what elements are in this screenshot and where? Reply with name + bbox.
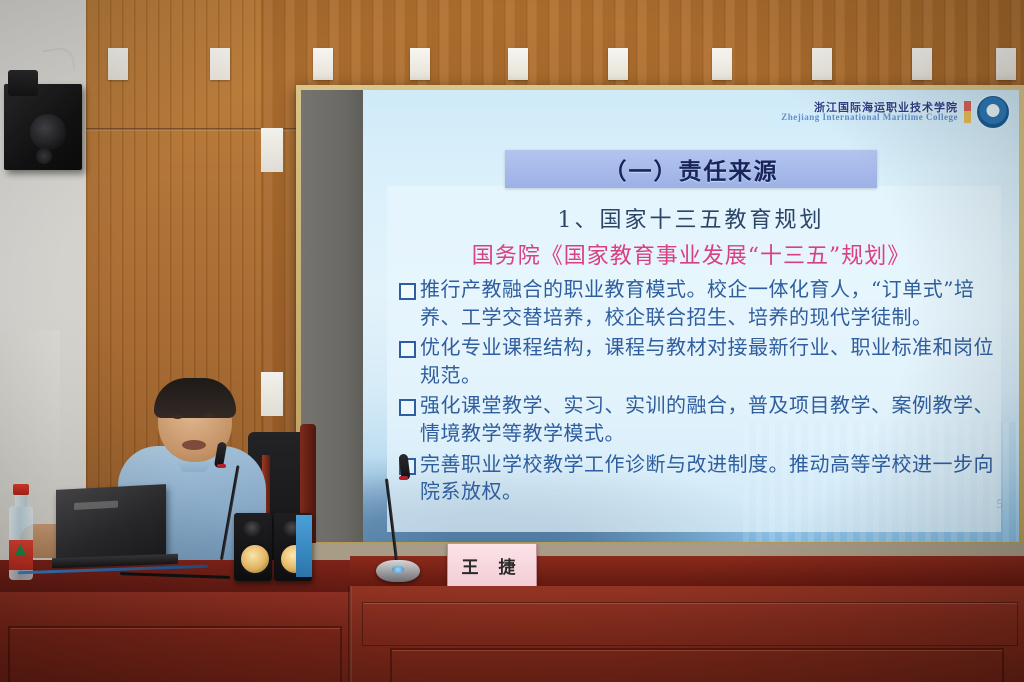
speaker-tweeter-icon <box>36 148 52 164</box>
slide-title-bar: （一）责任来源 <box>505 150 877 188</box>
wall-notch-upper <box>261 128 283 172</box>
mic-indicator-ring <box>217 464 226 468</box>
slide-page-number: 5 <box>997 496 1004 512</box>
slide-canvas: 浙江国际海运职业技术学院 Zhejiang International Mari… <box>363 90 1019 542</box>
brand-accent-bar <box>964 101 971 123</box>
college-branding: 浙江国际海运职业技术学院 Zhejiang International Mari… <box>781 96 1009 128</box>
wall-seam-left <box>86 128 261 131</box>
college-seal-icon <box>977 96 1009 128</box>
wall-panel <box>812 48 832 80</box>
checkbox-icon <box>399 283 416 300</box>
laptop-logo-icon <box>74 501 118 510</box>
wall-panel <box>712 48 732 80</box>
nameplate-text: 王 捷 <box>462 553 523 578</box>
person-eye-left <box>172 414 183 419</box>
bullet-text: 推行产教融合的职业教育模式。校企一体化育人，“订单式”培养、工学交替培养，校企联… <box>420 276 999 331</box>
wall-speaker <box>4 84 82 170</box>
college-name-en: Zhejiang International Maritime College <box>781 113 958 122</box>
bottle-label <box>9 540 33 570</box>
water-bottle <box>8 484 34 580</box>
bullet-text: 完善职业学校教学工作诊断与改进制度。推动高等学校进一步向院系放权。 <box>420 451 999 506</box>
slide-title: （一）责任来源 <box>604 152 779 186</box>
desktop-speaker-left <box>234 513 272 581</box>
podium-seam <box>348 586 352 682</box>
checkbox-icon <box>399 341 416 358</box>
speaker-woofer-icon <box>239 543 271 575</box>
podium-molding-right-upper <box>362 602 1018 646</box>
person-mouth <box>182 440 206 450</box>
laptop-screen <box>56 484 166 564</box>
podium-molding-left <box>8 626 342 682</box>
wall-panel <box>108 48 128 80</box>
checkbox-icon <box>399 399 416 416</box>
mic-status-led <box>392 566 404 573</box>
wall-notch-mid <box>261 372 283 416</box>
presentation-photo: 浙江国际海运职业技术学院 Zhejiang International Mari… <box>0 0 1024 682</box>
list-item: 推行产教融合的职业教育模式。校企一体化育人，“订单式”培养、工学交替培养，校企联… <box>399 276 999 331</box>
speaker-tweeter-icon <box>243 521 263 537</box>
bottle-neck <box>15 495 27 507</box>
speaker-driver-icon <box>30 114 66 150</box>
mic-indicator-ring <box>399 476 408 480</box>
bullet-text: 强化课堂教学、实习、实训的融合，普及项目教学、案例教学、情境教学等教学模式。 <box>420 392 999 447</box>
list-item: 优化专业课程结构，课程与教材对接最新行业、职业标准和岗位规范。 <box>399 334 999 389</box>
podium-molding-right <box>390 648 1004 682</box>
wall-panel <box>210 48 230 80</box>
list-item: 完善职业学校教学工作诊断与改进制度。推动高等学校进一步向院系放权。 <box>399 451 999 506</box>
wall-panel <box>608 48 628 80</box>
wall-panel <box>313 48 333 80</box>
wall-panel <box>996 48 1016 80</box>
bottle-cap <box>13 484 29 495</box>
list-item: 强化课堂教学、实习、实训的融合，普及项目教学、案例教学、情境教学等教学模式。 <box>399 392 999 447</box>
person-eye-right <box>204 413 215 418</box>
wall-panel <box>912 48 932 80</box>
speaker-mount-bracket <box>8 70 38 96</box>
wall-panel <box>410 48 430 80</box>
slide-subtitle-2: 国务院《国家教育事业发展“十三五”规划》 <box>363 238 1019 270</box>
slide-subtitle-1: 1、国家十三五教育规划 <box>363 202 1019 234</box>
wall-panel <box>508 48 528 80</box>
bullet-text: 优化专业课程结构，课程与教材对接最新行业、职业标准和岗位规范。 <box>420 334 999 389</box>
speaker-side-panel <box>296 515 312 577</box>
nameplate: 王 捷 <box>447 543 537 587</box>
slide-bullet-list: 推行产教融合的职业教育模式。校企一体化育人，“订单式”培养、工学交替培养，校企联… <box>399 276 999 509</box>
